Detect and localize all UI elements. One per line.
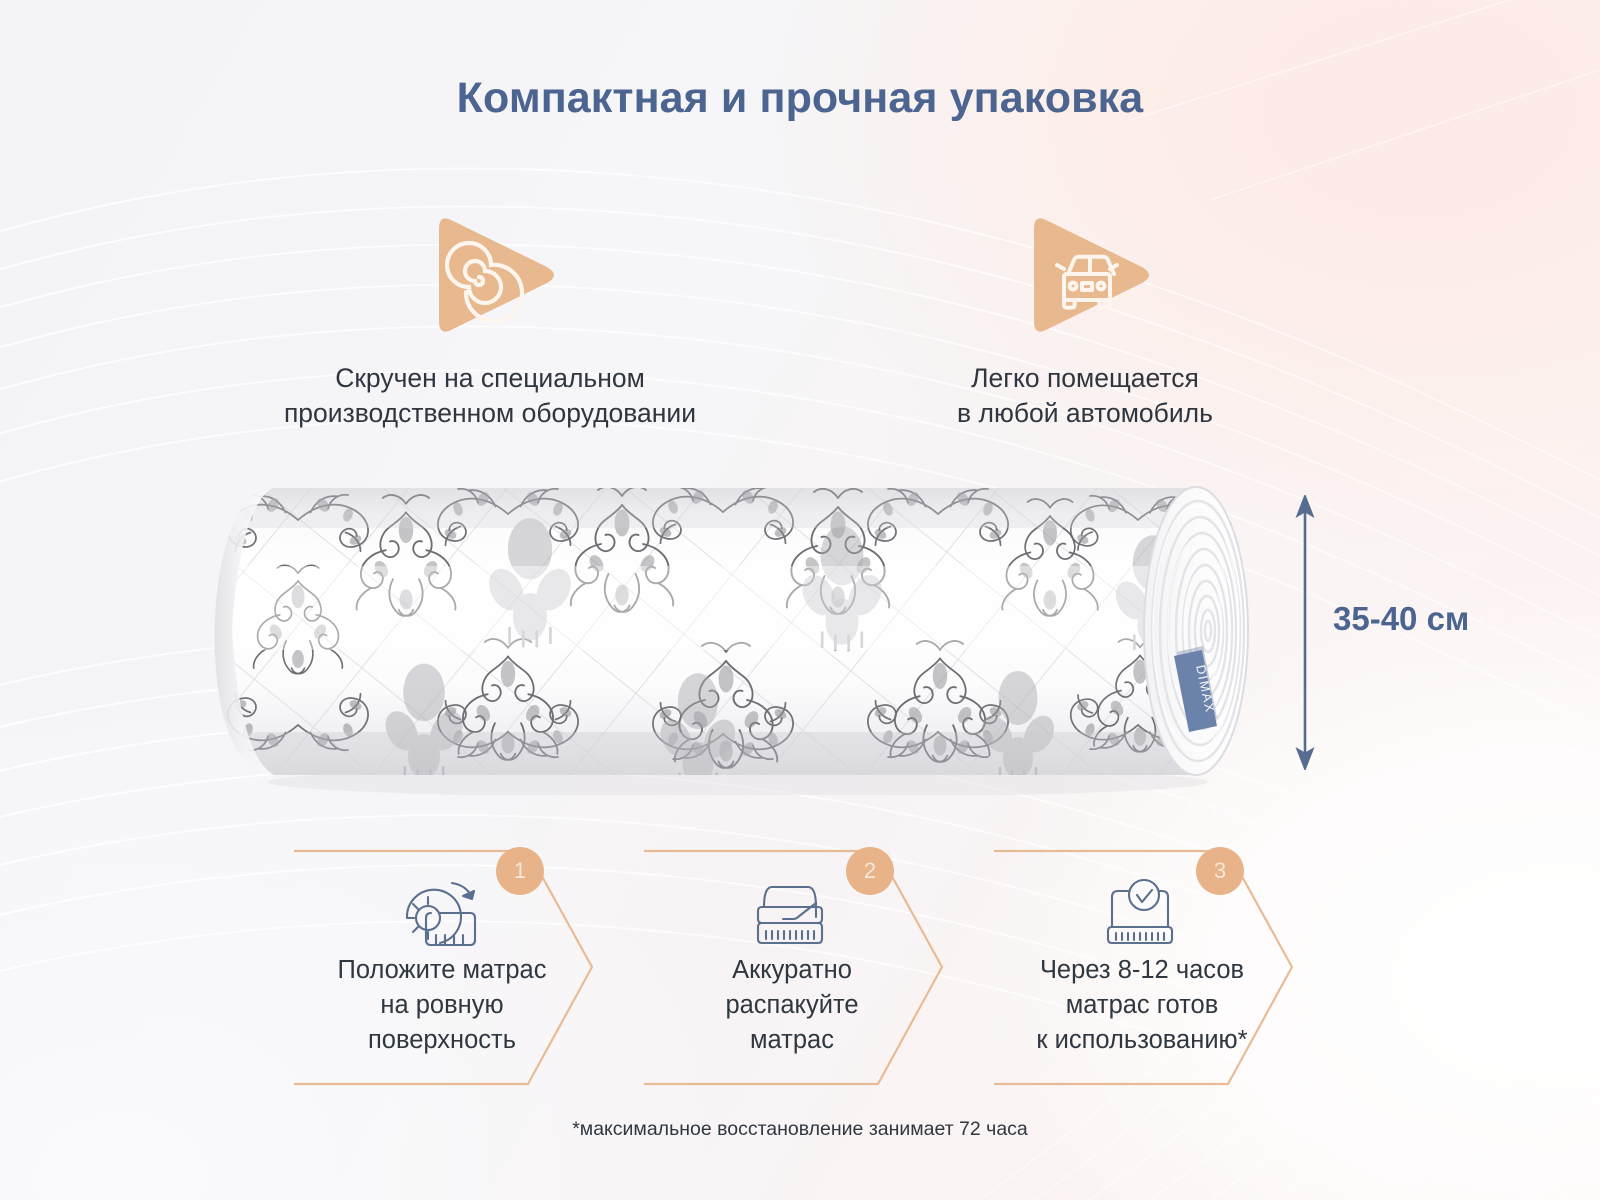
step-card-3: 3 Через 8-12 часов матрас готов к исполь… (990, 845, 1350, 1090)
roll-end-spiral (1144, 487, 1248, 775)
measuring-tape-icon (290, 873, 590, 955)
feature-fits-any-car: Легко помещается в любой автомобиль (885, 205, 1285, 431)
step-text: Аккуратно распакуйте матрас (632, 953, 952, 1058)
unpack-mattress-icon (640, 873, 940, 953)
mattress-check-icon (990, 873, 1290, 953)
feature-rolled-on-equipment: Скручен на специальном производственном … (210, 205, 770, 431)
feature-caption: Легко помещается в любой автомобиль (885, 361, 1285, 431)
spiral-roll-icon (415, 205, 565, 345)
infographic-canvas: Компактная и прочная упаковка Скручен на… (0, 0, 1600, 1200)
dimension-indicator: 35-40 см (1285, 495, 1575, 770)
feature-caption: Скручен на специальном производственном … (210, 361, 770, 431)
footnote-text: *максимальное восстановление занимает 72… (0, 1118, 1600, 1141)
car-front-icon (1010, 205, 1160, 345)
mattress-body (178, 470, 1288, 795)
rolled-mattress-photo: DIMAX (178, 470, 1288, 795)
step-text: Через 8-12 часов матрас готов к использо… (982, 953, 1302, 1058)
steps-row: 1 Положите матрас на ровную поверхность (290, 845, 1320, 1090)
step-card-2: 2 Аккуратно распакуйте матрас (640, 845, 1000, 1090)
page-title: Компактная и прочная упаковка (0, 74, 1600, 123)
step-card-1: 1 Положите матрас на ровную поверхность (290, 845, 650, 1090)
double-arrow-vertical (1285, 495, 1325, 770)
step-text: Положите матрас на ровную поверхность (282, 953, 602, 1058)
dimension-label: 35-40 см (1333, 600, 1469, 638)
